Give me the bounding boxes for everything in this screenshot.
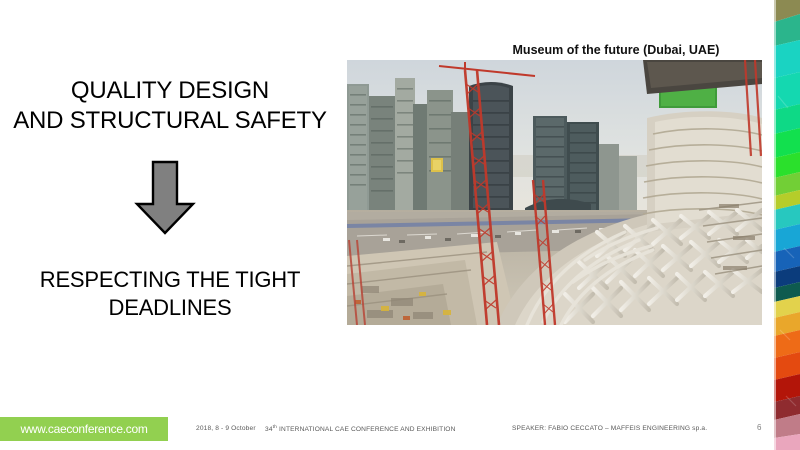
footer-conference-title: INTERNATIONAL CAE CONFERENCE AND EXHIBIT… — [277, 426, 455, 433]
slide-page-number: 6 — [757, 423, 761, 432]
footer-url-text: www.caeconference.com — [20, 422, 147, 436]
page-title-top: QUALITY DESIGN AND STRUCTURAL SAFETY — [10, 76, 330, 136]
slide-canvas: QUALITY DESIGN AND STRUCTURAL SAFETY RES… — [0, 0, 800, 450]
title-bottom-line-2: DEADLINES — [10, 294, 330, 322]
page-title-bottom: RESPECTING THE TIGHT DEADLINES — [10, 266, 330, 321]
footer-conference-number: 34 — [265, 426, 273, 433]
photo-construction-site — [347, 60, 762, 325]
footer-speaker: SPEAKER: FABIO CECCATO – MAFFEIS ENGINEE… — [512, 425, 707, 432]
footer-conference-name: 34th INTERNATIONAL CAE CONFERENCE AND EX… — [265, 425, 456, 433]
decorative-color-strip — [774, 0, 800, 450]
title-bottom-line-1: RESPECTING THE TIGHT — [10, 266, 330, 294]
title-top-line-2: AND STRUCTURAL SAFETY — [10, 106, 330, 136]
footer-url-banner[interactable]: www.caeconference.com — [0, 417, 168, 441]
footer-date: 2018, 8 - 9 October — [196, 425, 256, 432]
photo-caption: Museum of the future (Dubai, UAE) — [470, 43, 762, 57]
down-arrow-icon — [134, 160, 196, 236]
title-top-line-1: QUALITY DESIGN — [10, 76, 330, 106]
